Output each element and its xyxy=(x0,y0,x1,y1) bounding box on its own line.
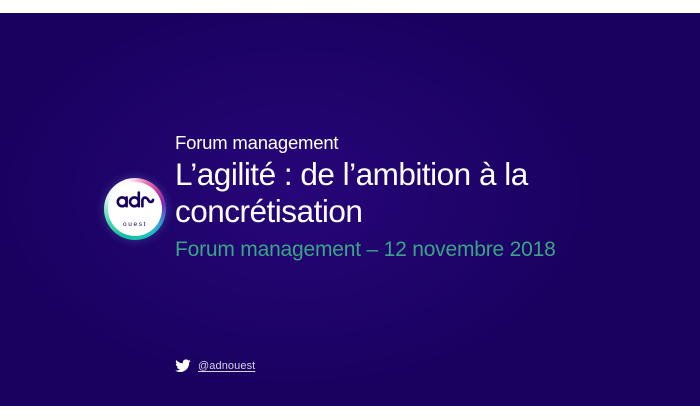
adn-wordmark-icon xyxy=(115,190,155,220)
eyebrow-text: Forum management xyxy=(175,131,675,155)
logo-inner-disc: ouest xyxy=(108,182,162,236)
twitter-icon xyxy=(175,359,191,373)
letterbox-band-top xyxy=(0,0,700,13)
adn-ouest-logo: ouest xyxy=(104,178,166,240)
slide-canvas: ouest Forum management L’agilité : de l’… xyxy=(0,13,700,406)
subtitle-text: Forum management – 12 novembre 2018 xyxy=(175,236,675,264)
letterbox-band-bottom xyxy=(0,406,700,420)
title-block: Forum management L’agilité : de l’ambiti… xyxy=(175,131,675,264)
page-title: L’agilité : de l’ambition à la concrétis… xyxy=(175,156,595,230)
presentation-slide: ouest Forum management L’agilité : de l’… xyxy=(0,0,700,420)
social-handle[interactable]: @adnouest xyxy=(175,359,255,373)
logo-tagline: ouest xyxy=(123,221,147,228)
twitter-handle-text[interactable]: @adnouest xyxy=(198,359,255,373)
